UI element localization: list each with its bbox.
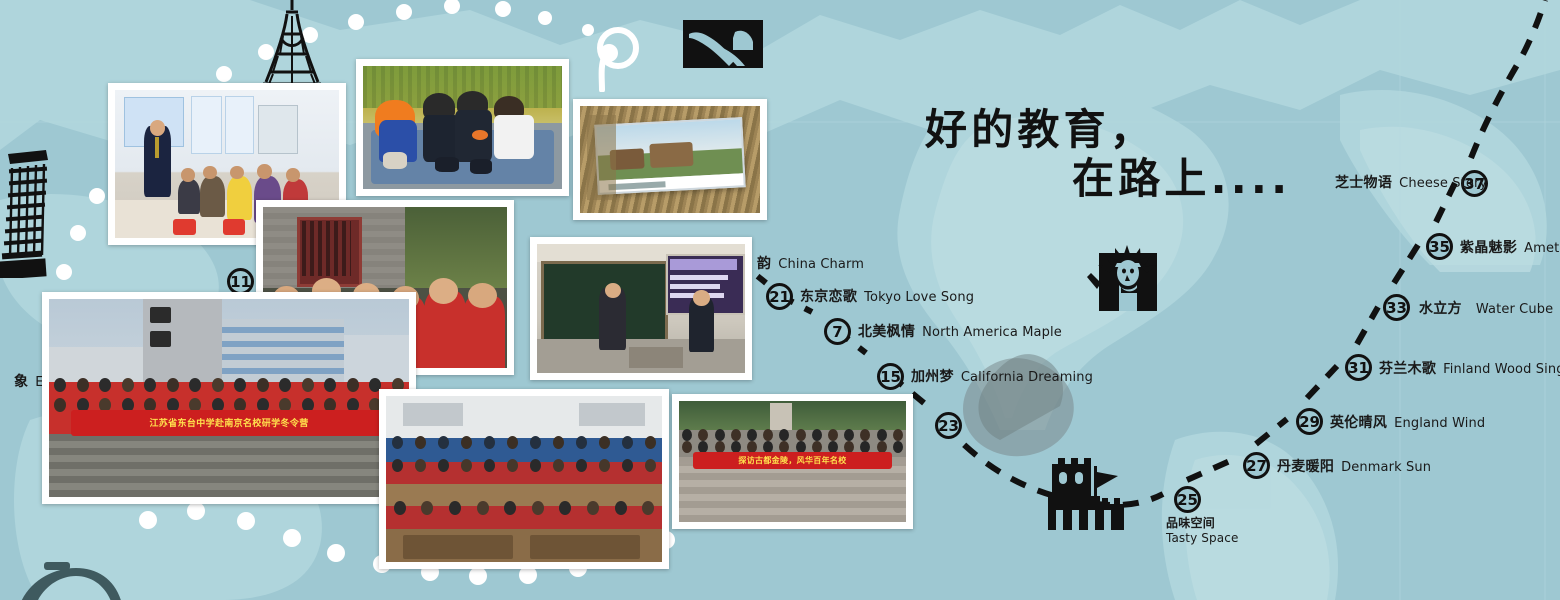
statue-of-liberty-icon [1085,243,1165,315]
photo-group-banner-winter[interactable]: 江苏省东台中学赴南京名校研学冬令营 [42,292,416,504]
route-node-7[interactable]: 7 [824,318,851,345]
photo-field-model[interactable] [573,99,767,220]
route-label-29: 英伦晴风England Wind [1330,412,1485,432]
route-label-31: 芬兰木歌Finland Wood Singing [1379,358,1560,378]
eiffel-tower-icon [252,0,332,88]
route-node-27[interactable]: 27 [1243,452,1270,479]
photo-outdoor-activity[interactable] [356,59,569,196]
bridge-icon [14,562,124,600]
route-label-7: 北美枫情North America Maple [858,321,1062,341]
route-node-25[interactable]: 25 [1174,486,1201,513]
route-node-11[interactable]: 11 [227,268,254,295]
route-node-21[interactable]: 21 [766,283,793,310]
poster-canvas: 好的教育， 在路上.... [0,0,1560,600]
photo-lecture-hall[interactable] [530,237,752,380]
page-title-line2: 在路上.... [1072,145,1291,206]
map-label-china-charm: 韵China Charm [757,253,864,273]
route-label-25: 品味空间 Tasty Space [1166,516,1238,546]
route-label-37: 芝士物语Cheese Story [1335,172,1487,192]
route-label-27: 丹麦暖阳Denmark Sun [1277,456,1431,476]
leaning-tower-of-pisa-icon [0,148,60,278]
route-node-33[interactable]: 33 [1383,294,1410,321]
route-label-35: 紫晶魅影Amethyst Ch [1460,237,1560,257]
route-label-33: 水立方Water Cube [1419,298,1553,318]
photo-banner-text-winter: 江苏省东台中学赴南京名校研学冬令营 [71,410,388,436]
mountain-landmark-icon [683,18,763,70]
route-node-23[interactable]: 23 [935,412,962,439]
route-node-15[interactable]: 15 [877,363,904,390]
route-label-21: 东京恋歌Tokyo Love Song [800,286,974,306]
route-label-15: 加州梦California Dreaming [911,366,1093,386]
photo-banner-text-jinling: 探访古都金陵，风华百年名校 [693,452,893,469]
magnifier-loop-icon [588,22,644,92]
route-node-31[interactable]: 31 [1345,354,1372,381]
photo-auditorium[interactable] [379,389,669,569]
castle-flag-icon [1048,452,1124,530]
route-node-35[interactable]: 35 [1426,233,1453,260]
route-node-29[interactable]: 29 [1296,408,1323,435]
photo-group-banner-jinling[interactable]: 探访古都金陵，风华百年名校 [672,394,913,529]
